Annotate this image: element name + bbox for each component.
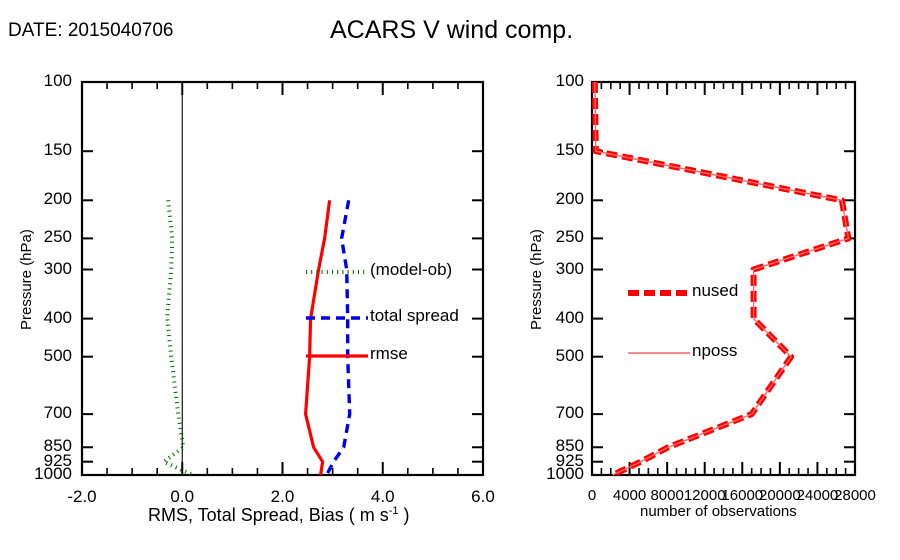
left-xtick-label-1: 0.0 [147, 487, 217, 507]
right-legend-label-1: nposs [692, 341, 737, 361]
right-ytick-label-700: 700 [510, 403, 584, 423]
left-ytick-label-250: 250 [0, 227, 72, 247]
left-legend-label-1: total spread [370, 306, 459, 326]
right-ytick-label-400: 400 [510, 308, 584, 328]
left-legend-label-0: (model-ob) [370, 260, 452, 280]
series--model-ob- [164, 200, 193, 475]
right-ytick-label-250: 250 [510, 227, 584, 247]
right-xtick-label-7: 28000 [820, 487, 890, 504]
series-nposs [595, 82, 849, 475]
left-xtick-label-2: 2.0 [248, 487, 318, 507]
right-ytick-label-150: 150 [510, 140, 584, 160]
right-ytick-label-200: 200 [510, 189, 584, 209]
series-total-spread [327, 200, 350, 475]
left-xtick-label-0: -2.0 [47, 487, 117, 507]
series-nused [595, 82, 849, 475]
series-rmse [306, 200, 330, 475]
left-ytick-label-100: 100 [0, 71, 72, 91]
left-ytick-label-700: 700 [0, 403, 72, 423]
right-ytick-label-500: 500 [510, 346, 584, 366]
left-ytick-label-200: 200 [0, 189, 72, 209]
right-ytick-label-1000: 1000 [510, 464, 584, 484]
left-ytick-label-150: 150 [0, 140, 72, 160]
right-ytick-label-300: 300 [510, 259, 584, 279]
figure-canvas: DATE: 2015040706 ACARS V wind comp. Pres… [0, 0, 900, 560]
right-legend-label-0: nused [692, 281, 738, 301]
left-xtick-label-3: 4.0 [348, 487, 418, 507]
left-xtick-label-4: 6.0 [448, 487, 518, 507]
left-ytick-label-1000: 1000 [0, 464, 72, 484]
left-ytick-label-300: 300 [0, 259, 72, 279]
right-ytick-label-100: 100 [510, 71, 584, 91]
left-ytick-label-400: 400 [0, 308, 72, 328]
left-ytick-label-500: 500 [0, 346, 72, 366]
plot-area [0, 0, 900, 560]
left-legend-label-2: rmse [370, 344, 408, 364]
right-panel-frame [592, 82, 855, 475]
